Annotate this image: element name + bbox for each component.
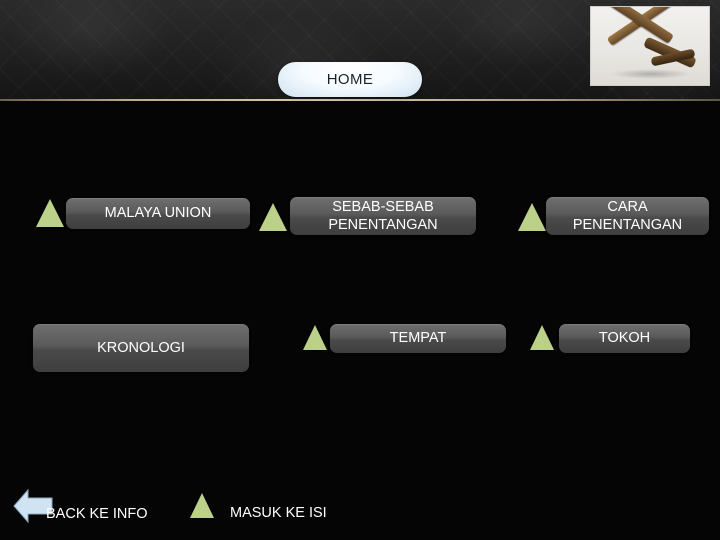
triangle-bullet-icon [518, 203, 546, 231]
nav-button-sebab-sebab-penentangan[interactable]: SEBAB-SEBAB PENENTANGAN [290, 197, 476, 235]
triangle-bullet-icon [36, 199, 64, 227]
nav-button-label: SEBAB-SEBAB PENENTANGAN [298, 198, 468, 234]
nav-button-label: TOKOH [599, 329, 650, 347]
page-title-label: HOME [327, 71, 374, 88]
nav-button-cara-penentangan[interactable]: CARA PENENTANGAN [546, 197, 709, 235]
slide-canvas: HOME MALAYA UNION SEBAB-SEBAB PENENTANGA… [0, 0, 720, 540]
nav-button-malaya-union[interactable]: MALAYA UNION [66, 198, 250, 229]
nav-button-label: TEMPAT [390, 329, 447, 347]
nav-button-label: CARA PENENTANGAN [554, 198, 701, 234]
masuk-ke-isi-label[interactable]: MASUK KE ISI [230, 505, 327, 521]
triangle-bullet-icon [259, 203, 287, 231]
nav-button-label: MALAYA UNION [105, 204, 212, 222]
triangle-bullet-icon [303, 325, 327, 350]
banner-divider-rule [0, 99, 720, 101]
logo-shadow [611, 69, 691, 79]
triangle-bullet-icon [530, 325, 554, 350]
wooden-sticks-logo [590, 6, 710, 86]
back-to-info-label[interactable]: BACK KE INFO [46, 505, 176, 523]
nav-button-label: KRONOLOGI [97, 339, 185, 357]
page-title: HOME [278, 62, 422, 97]
nav-button-tokoh[interactable]: TOKOH [559, 324, 690, 353]
nav-button-kronologi[interactable]: KRONOLOGI [33, 324, 249, 372]
nav-button-tempat[interactable]: TEMPAT [330, 324, 506, 353]
triangle-bullet-icon [190, 493, 214, 518]
